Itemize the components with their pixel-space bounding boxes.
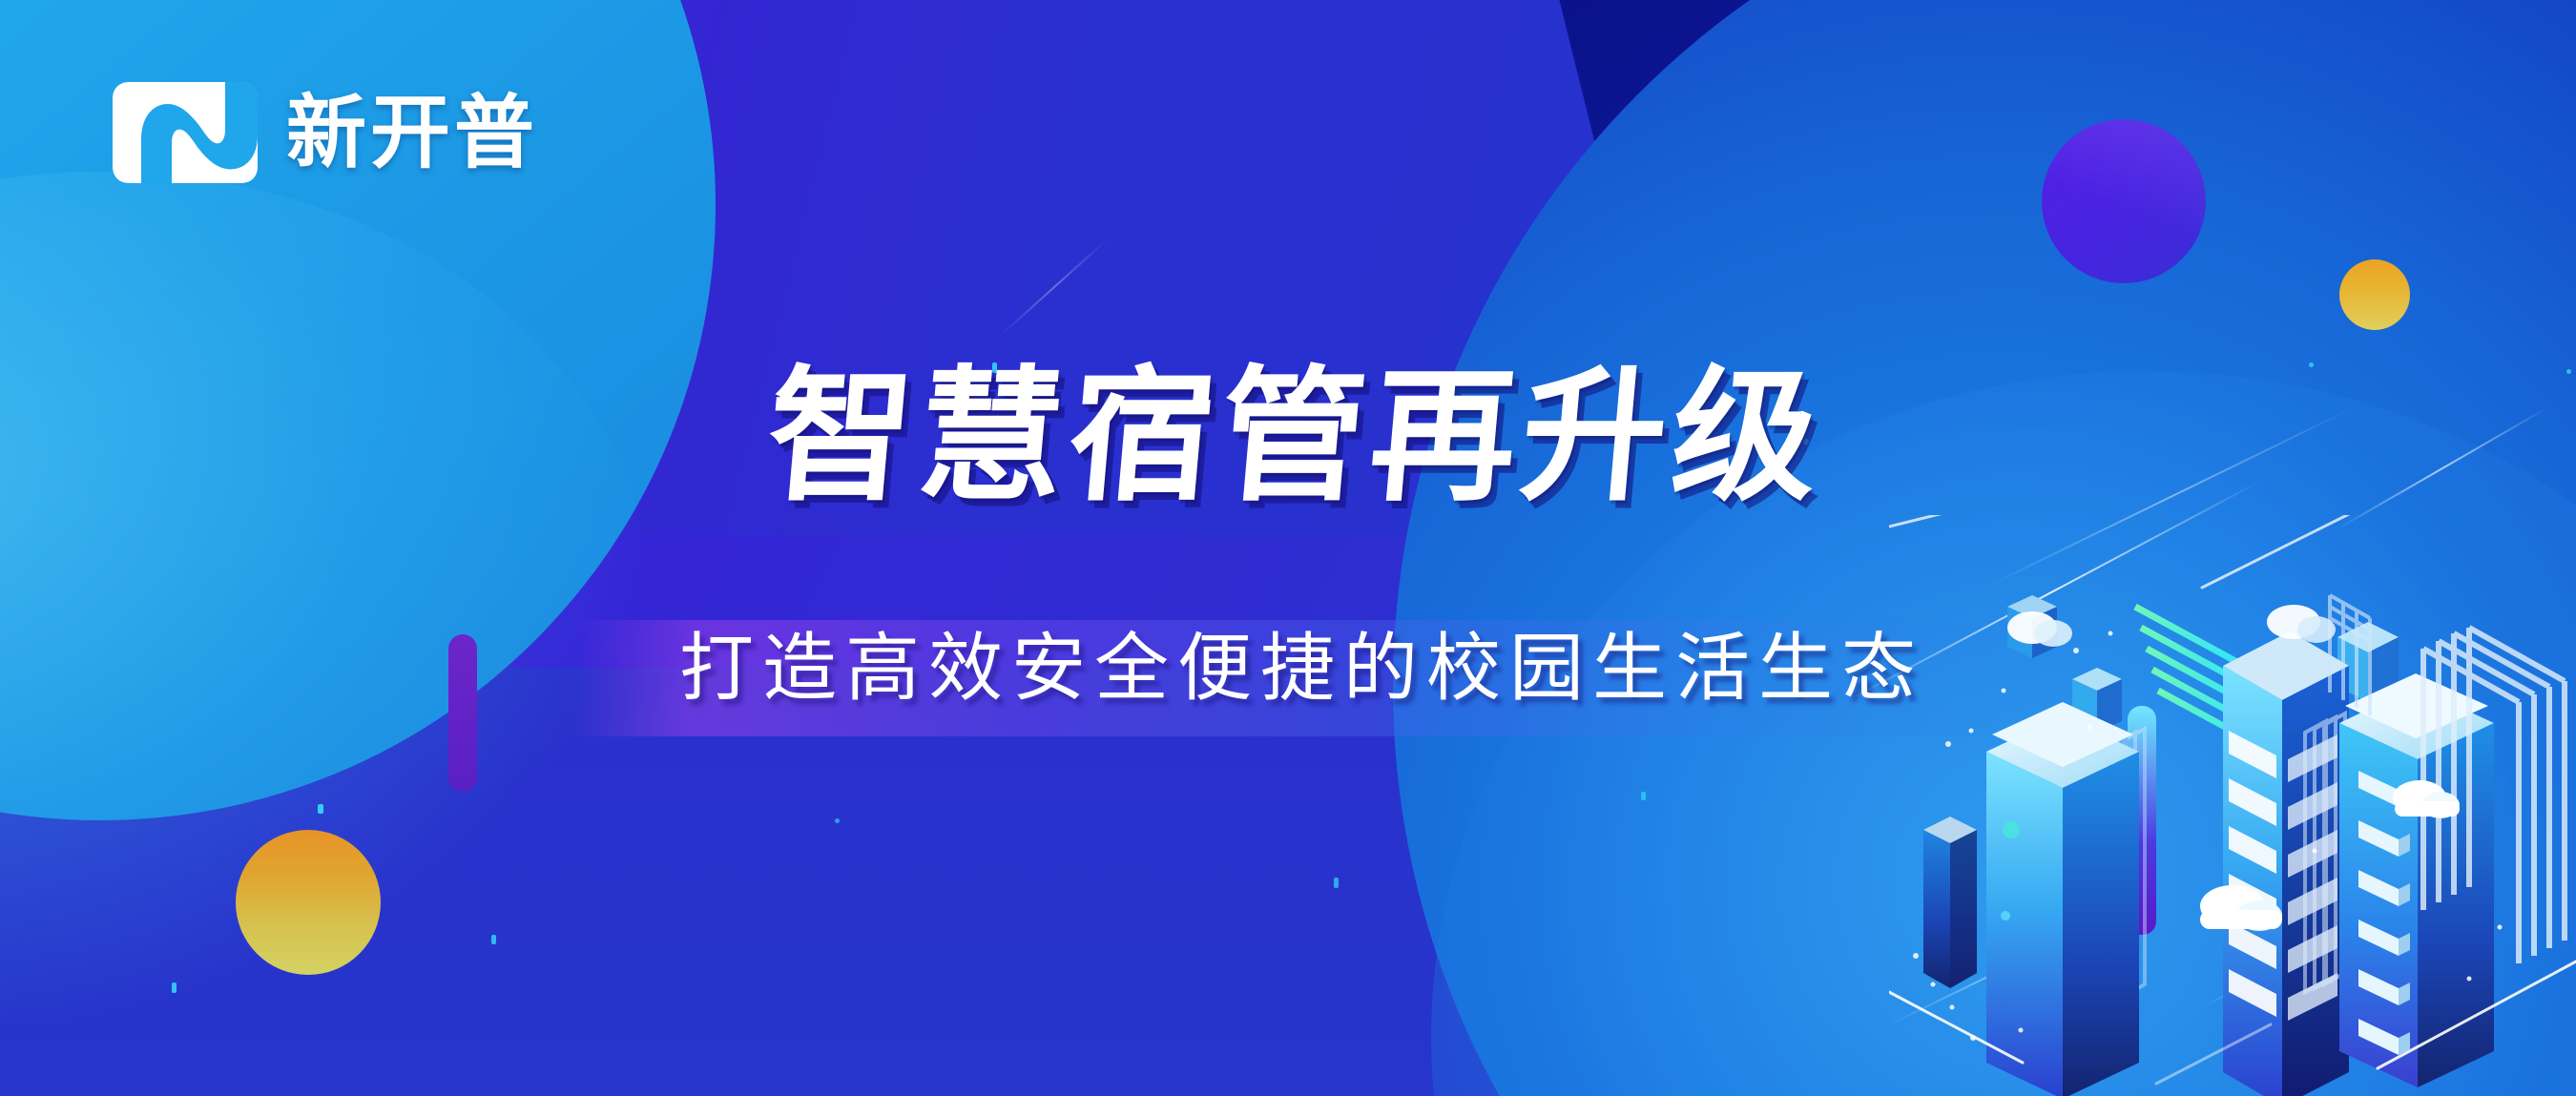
sparkle-dot (318, 804, 323, 814)
yellow-circle-small (2339, 259, 2410, 330)
skyscraper (1923, 817, 1977, 988)
sparkle-dot (835, 818, 840, 823)
purple-accent-bar (448, 634, 477, 792)
sparkle-dot (1334, 878, 1339, 888)
page-subtitle: 打造高效安全便捷的校园生活生态 (679, 628, 1924, 710)
sparkle-dot (172, 982, 177, 993)
sparkle-dot (2309, 362, 2314, 367)
yellow-circle-large (236, 830, 381, 975)
isometric-city-illustration (1889, 515, 2576, 1096)
brand-name-text: 新开普 (286, 93, 538, 173)
sparkle-dot (1641, 792, 1646, 800)
promo-banner: 新开普 智慧宿管再升级 打造高效安全便捷的校园生活生态 (0, 0, 2576, 1096)
page-title: 智慧宿管再升级 (761, 364, 1829, 509)
violet-sphere-decoration (2042, 119, 2206, 283)
skyscraper (2223, 631, 2349, 1096)
brand-logo[interactable]: 新开普 (113, 82, 538, 183)
cloud-icon (2267, 605, 2336, 643)
sparkle-dot (491, 935, 496, 944)
xinkaipu-n-wave-logo-icon (113, 82, 258, 183)
light-streak (1889, 515, 2366, 588)
skyscraper (1986, 702, 2139, 1096)
sparkle-dot (2566, 369, 2571, 374)
